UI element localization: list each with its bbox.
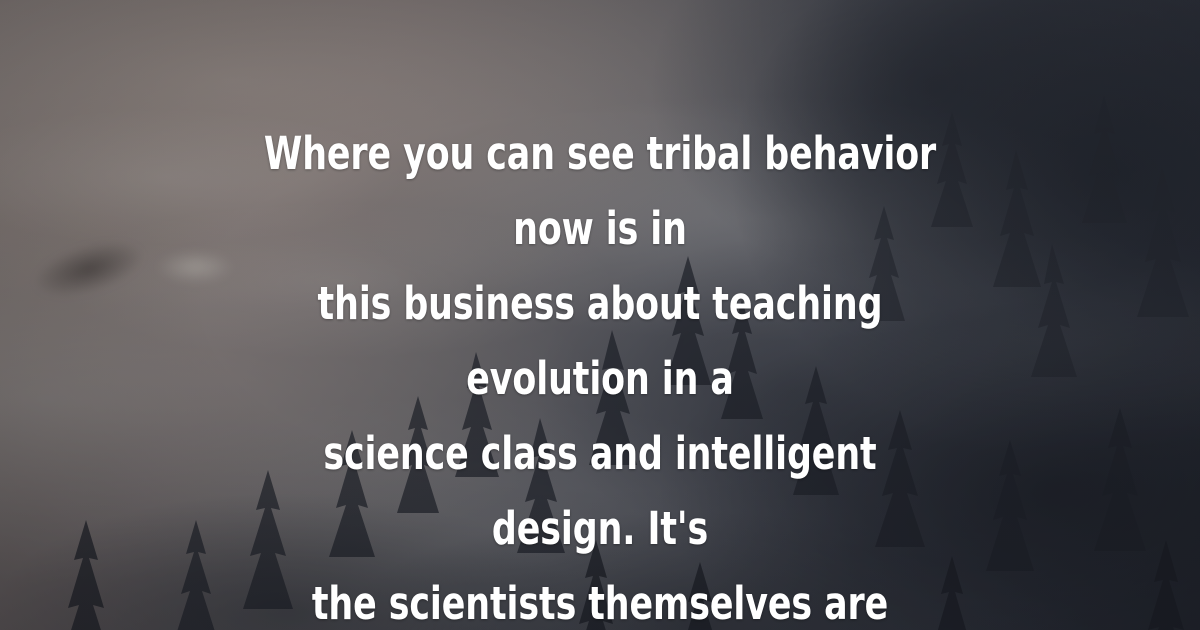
quote-text: Where you can see tribal behavior now is… [256,116,944,630]
quote-card: Where you can see tribal behavior now is… [0,0,1200,630]
card-content: Where you can see tribal behavior now is… [0,0,1200,630]
